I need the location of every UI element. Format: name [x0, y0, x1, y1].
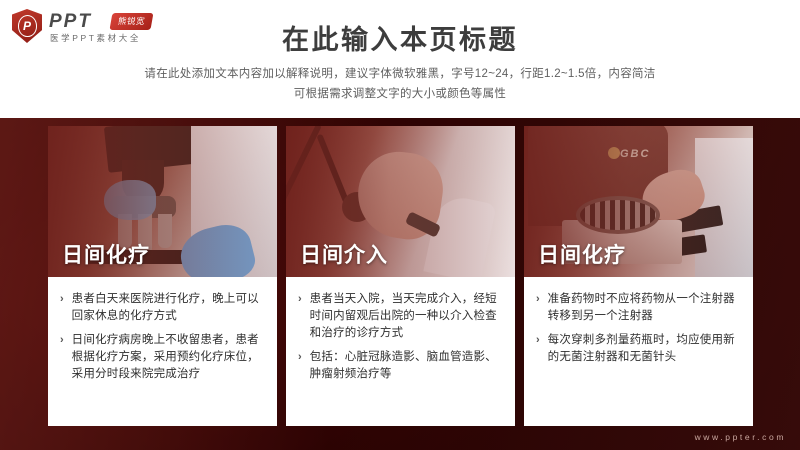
card-label: 日间介入 [300, 239, 388, 269]
card-day-intervention[interactable]: 日间介入 › 患者当天入院，当天完成介入，经短时间内留观后出院的一种以介入检查和… [286, 126, 515, 426]
list-item: › 每次穿刺多剂量药瓶时，均应使用新的无菌注射器和无菌针头 [536, 332, 739, 366]
list-item: › 患者白天来医院进行化疗，晚上可以回家休息的化疗方式 [60, 291, 263, 325]
card-photo-stethoscope: 日间介入 [286, 126, 515, 277]
list-item: › 包括：心脏冠脉造影、脑血管造影、肿瘤射频治疗等 [298, 349, 501, 383]
subtitle-line-1: 请在此处添加文本内容加以解释说明，建议字体微软雅黑，字号12~24，行距1.2~… [0, 64, 800, 84]
card-row: 日间化疗 › 患者白天来医院进行化疗，晚上可以回家休息的化疗方式 › 日间化疗病… [48, 126, 754, 426]
subtitle-line-2: 可根据需求调整文字的大小或颜色等属性 [0, 84, 800, 104]
chevron-right-icon: › [60, 291, 64, 325]
chevron-right-icon: › [60, 332, 64, 383]
bullet-text: 患者当天入院，当天完成介入，经短时间内留观后出院的一种以介入检查和治疗的诊疗方式 [310, 291, 501, 342]
card-photo-microscope: 日间化疗 [48, 126, 277, 277]
card-text-panel: › 患者白天来医院进行化疗，晚上可以回家休息的化疗方式 › 日间化疗病房晚上不收… [48, 277, 277, 426]
page-title: 在此输入本页标题 [0, 18, 800, 57]
card-label: 日间化疗 [62, 239, 150, 269]
card-day-chemotherapy-lab[interactable]: GBC 日间化疗 › 准备药物时不应将药物从一个注射器转移到另一个注射器 › 每… [524, 126, 753, 426]
card-text-panel: › 患者当天入院，当天完成介入，经短时间内留观后出院的一种以介入检查和治疗的诊疗… [286, 277, 515, 426]
list-item: › 准备药物时不应将药物从一个注射器转移到另一个注射器 [536, 291, 739, 325]
footer-url: www.ppter.com [695, 432, 786, 442]
chevron-right-icon: › [298, 291, 302, 342]
chevron-right-icon: › [298, 349, 302, 383]
chevron-right-icon: › [536, 332, 540, 366]
bullet-text: 每次穿刺多剂量药瓶时，均应使用新的无菌注射器和无菌针头 [548, 332, 739, 366]
bullet-text: 日间化疗病房晚上不收留患者，患者根据化疗方案，采用预约化疗床位，采用分时段来院完… [72, 332, 263, 383]
list-item: › 日间化疗病房晚上不收留患者，患者根据化疗方案，采用预约化疗床位，采用分时段来… [60, 332, 263, 383]
list-item: › 患者当天入院，当天完成介入，经短时间内留观后出院的一种以介入检查和治疗的诊疗… [298, 291, 501, 342]
page-subtitle: 请在此处添加文本内容加以解释说明，建议字体微软雅黑，字号12~24，行距1.2~… [0, 64, 800, 104]
card-day-chemotherapy[interactable]: 日间化疗 › 患者白天来医院进行化疗，晚上可以回家休息的化疗方式 › 日间化疗病… [48, 126, 277, 426]
card-label: 日间化疗 [538, 239, 626, 269]
card-text-panel: › 准备药物时不应将药物从一个注射器转移到另一个注射器 › 每次穿刺多剂量药瓶时… [524, 277, 753, 426]
bullet-text: 患者白天来医院进行化疗，晚上可以回家休息的化疗方式 [72, 291, 263, 325]
bullet-text: 包括：心脏冠脉造影、脑血管造影、肿瘤射频治疗等 [310, 349, 501, 383]
card-photo-lab-analyzer: GBC 日间化疗 [524, 126, 753, 277]
bullet-text: 准备药物时不应将药物从一个注射器转移到另一个注射器 [548, 291, 739, 325]
chevron-right-icon: › [536, 291, 540, 325]
